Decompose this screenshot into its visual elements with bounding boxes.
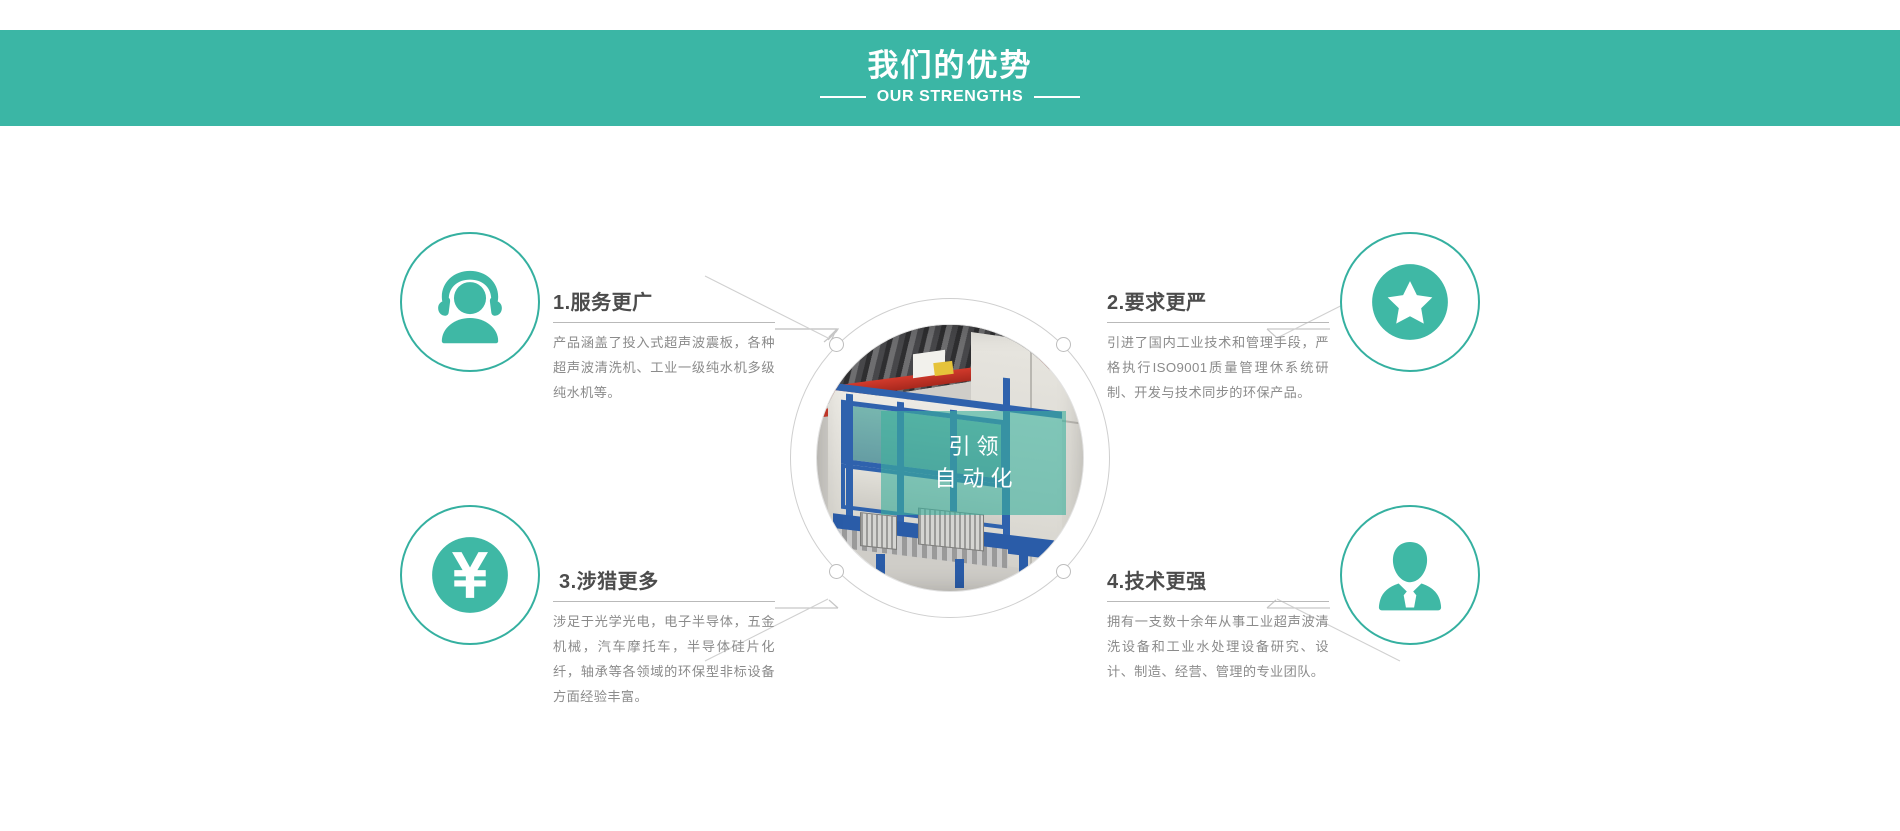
subtitle-rule-left [820,96,866,98]
businessman-icon [1342,505,1478,645]
center-media-group: 引领 自动化 [790,298,1110,618]
overlay-caption-line-2: 自动化 [928,463,1018,495]
advantage-rule-3 [553,601,775,602]
section-header-banner: 我们的优势 OUR STRENGTHS [0,30,1900,126]
headset-support-icon [402,232,538,372]
subtitle-text: OUR STRENGTHS [877,88,1023,106]
advantage-body-1: 产品涵盖了投入式超声波震板，各种超声波清洗机、工业一级纯水机多级纯水机等。 [553,330,775,405]
connector-node-bottom-right [1056,564,1071,579]
advantage-title-3: 3.涉猎更多 [553,570,775,595]
advantage-block-1: 1.服务更广 产品涵盖了投入式超声波震板，各种超声波清洗机、工业一级纯水机多级纯… [553,291,775,405]
subtitle-rule-right [1034,96,1080,98]
advantage-block-2: 2.要求更严 引进了国内工业技术和管理手段，严格执行ISO9001质量管理休系统… [1107,291,1329,405]
advantage-rule-2 [1107,322,1329,323]
page-title: 我们的优势 [868,50,1033,83]
factory-photo: 引领 自动化 [817,325,1083,591]
icon-circle-standards[interactable] [1340,232,1480,372]
advantage-block-4: 4.技术更强 拥有一支数十余年从事工业超声波清洗设备和工业水处理设备研究、设计、… [1107,570,1329,684]
page-subtitle: OUR STRENGTHS [820,88,1080,106]
advantages-stage: 1.服务更广 产品涵盖了投入式超声波震板，各种超声波清洗机、工业一级纯水机多级纯… [0,126,1900,831]
advantage-title-4: 4.技术更强 [1107,570,1329,595]
advantage-rule-1 [553,322,775,323]
icon-circle-scope[interactable] [400,505,540,645]
advantage-title-1: 1.服务更广 [553,291,775,316]
icon-circle-technology[interactable] [1340,505,1480,645]
yen-currency-icon [402,505,538,645]
advantage-title-2: 2.要求更严 [1107,291,1329,316]
connector-node-bottom-left [829,564,844,579]
icon-circle-service[interactable] [400,232,540,372]
advantage-block-3: 3.涉猎更多 涉足于光学光电，电子半导体，五金机械，汽车摩托车，半导体硅片化纤，… [553,570,775,709]
advantage-rule-4 [1107,601,1329,602]
advantage-body-2: 引进了国内工业技术和管理手段，严格执行ISO9001质量管理休系统研制、开发与技… [1107,330,1329,405]
advantage-body-4: 拥有一支数十余年从事工业超声波清洗设备和工业水处理设备研究、设计、制造、经营、管… [1107,609,1329,684]
star-icon [1342,232,1478,372]
photo-caption-overlay: 引领 自动化 [881,411,1066,515]
connector-node-top-right [1056,337,1071,352]
advantage-body-3: 涉足于光学光电，电子半导体，五金机械，汽车摩托车，半导体硅片化纤，轴承等各领域的… [553,609,775,709]
connector-node-top-left [829,337,844,352]
overlay-caption-line-1: 引领 [942,431,1004,463]
